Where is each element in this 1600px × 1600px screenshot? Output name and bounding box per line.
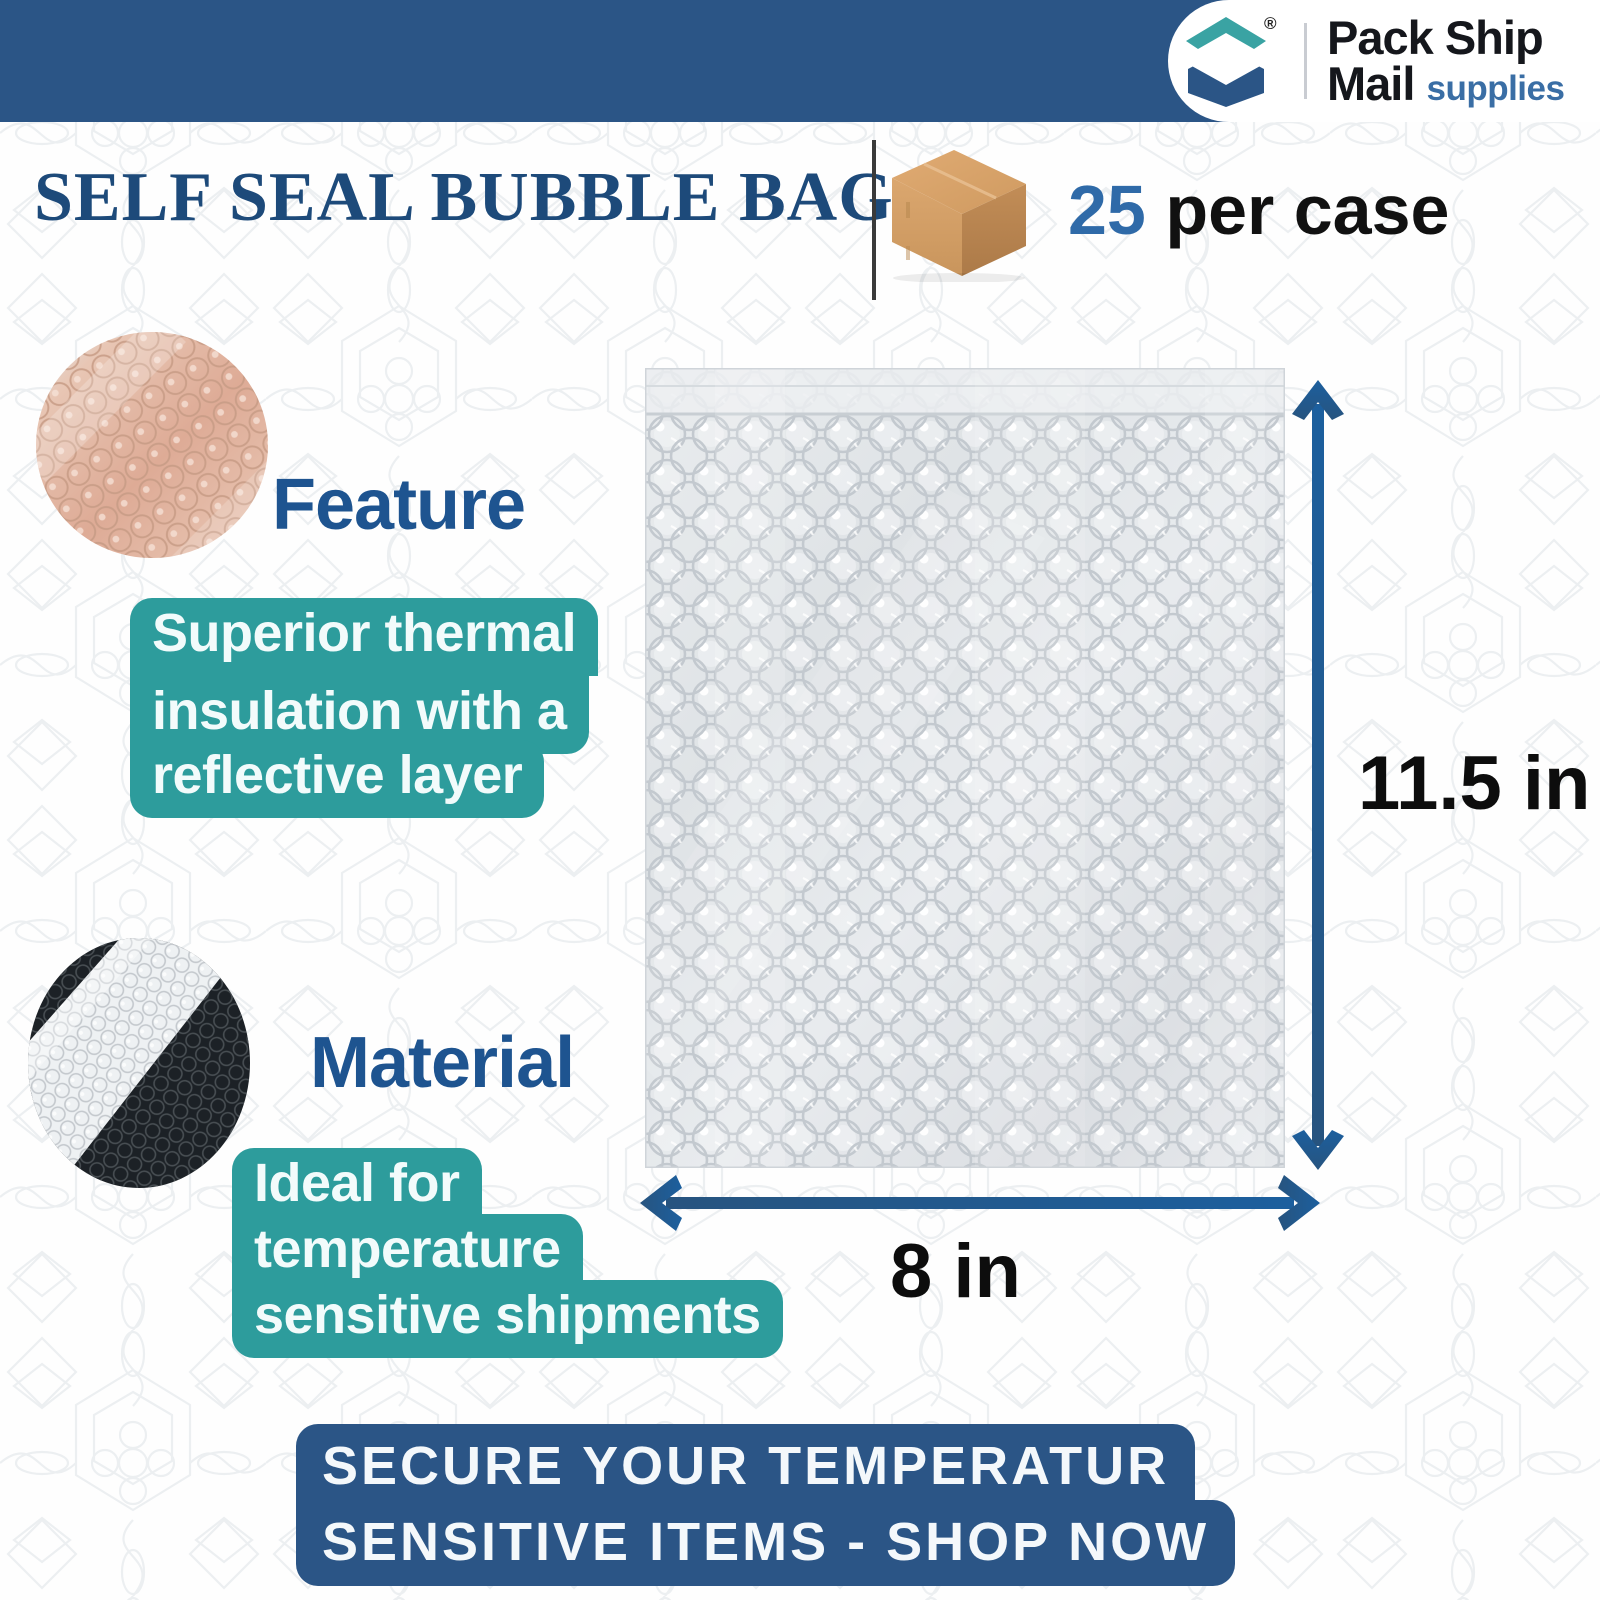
logo-line-1: Pack Ship [1327,15,1564,61]
logo-line-2: Mail supplies [1327,61,1564,107]
copper-bubble-wrap-thumbnail [36,332,268,558]
cardboard-box-icon [884,142,1034,282]
callout-feature-line-3: reflective layer [130,740,544,818]
case-count-value: 25 [1068,171,1146,249]
callout-feature-line-1: Superior thermal [130,598,598,676]
height-dimension-label: 11.5 in [1358,740,1590,827]
vertical-divider [872,140,876,300]
case-count-label: per case [1146,171,1450,249]
double-arrow-horizontal-icon [640,1170,1320,1236]
section-heading-feature: Feature [272,464,525,546]
width-dimension-label: 8 in [890,1228,1021,1315]
registered-trademark-icon: ® [1264,14,1277,34]
product-name: SELF SEAL BUBBLE BAG [34,158,894,238]
cta-line-1[interactable]: SECURE YOUR TEMPERATUR [296,1424,1195,1510]
logo-mail-word: Mail [1327,57,1414,110]
double-arrow-vertical-icon [1288,380,1348,1170]
cta-banner[interactable]: SECURE YOUR TEMPERATUR SENSITIVE ITEMS -… [296,1424,1235,1586]
section-heading-material: Material [310,1022,574,1104]
logo-divider [1304,23,1307,99]
product-photo [645,368,1285,1168]
callout-material-line-3: sensitive shipments [232,1280,783,1358]
brand-logo[interactable]: ® Pack Ship Mail supplies [1168,0,1600,122]
cta-line-2[interactable]: SENSITIVE ITEMS - SHOP NOW [296,1500,1235,1586]
insulated-bubble-liner-thumbnail [28,938,250,1188]
case-quantity: 25 per case [1068,166,1449,254]
hexagon-box-icon [1182,15,1270,107]
product-spec-graphic: PRODUCT SPECIFICATIONS ® Pack Ship Mail … [0,0,1600,1600]
callout-feature: Superior thermal insulation with a refle… [130,598,598,818]
logo-supplies-word: supplies [1426,69,1564,108]
logo-wordmark: Pack Ship Mail supplies [1327,15,1564,107]
